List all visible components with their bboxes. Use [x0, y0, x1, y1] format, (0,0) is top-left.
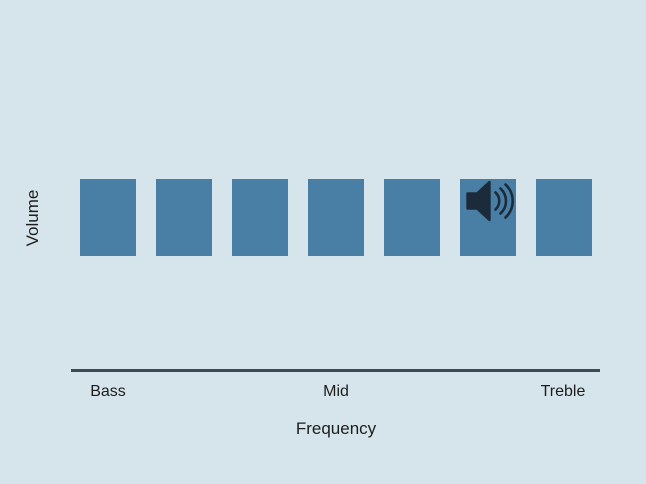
bar [384, 179, 440, 256]
bar [308, 179, 364, 256]
bar-series [0, 0, 646, 370]
x-axis-title: Frequency [296, 419, 376, 439]
chart-canvas: BassMidTreble Frequency Volume [0, 0, 646, 484]
speaker-volume-icon [466, 179, 514, 223]
bar [156, 179, 212, 256]
x-axis-line [71, 369, 600, 372]
bar [232, 179, 288, 256]
x-tick-label: Mid [323, 383, 349, 401]
x-tick-label: Treble [541, 383, 586, 401]
bar [536, 179, 592, 256]
x-tick-label: Bass [90, 383, 126, 401]
y-axis-title: Volume [23, 190, 43, 247]
bar [80, 179, 136, 256]
plot-area: BassMidTreble Frequency Volume [0, 0, 646, 484]
